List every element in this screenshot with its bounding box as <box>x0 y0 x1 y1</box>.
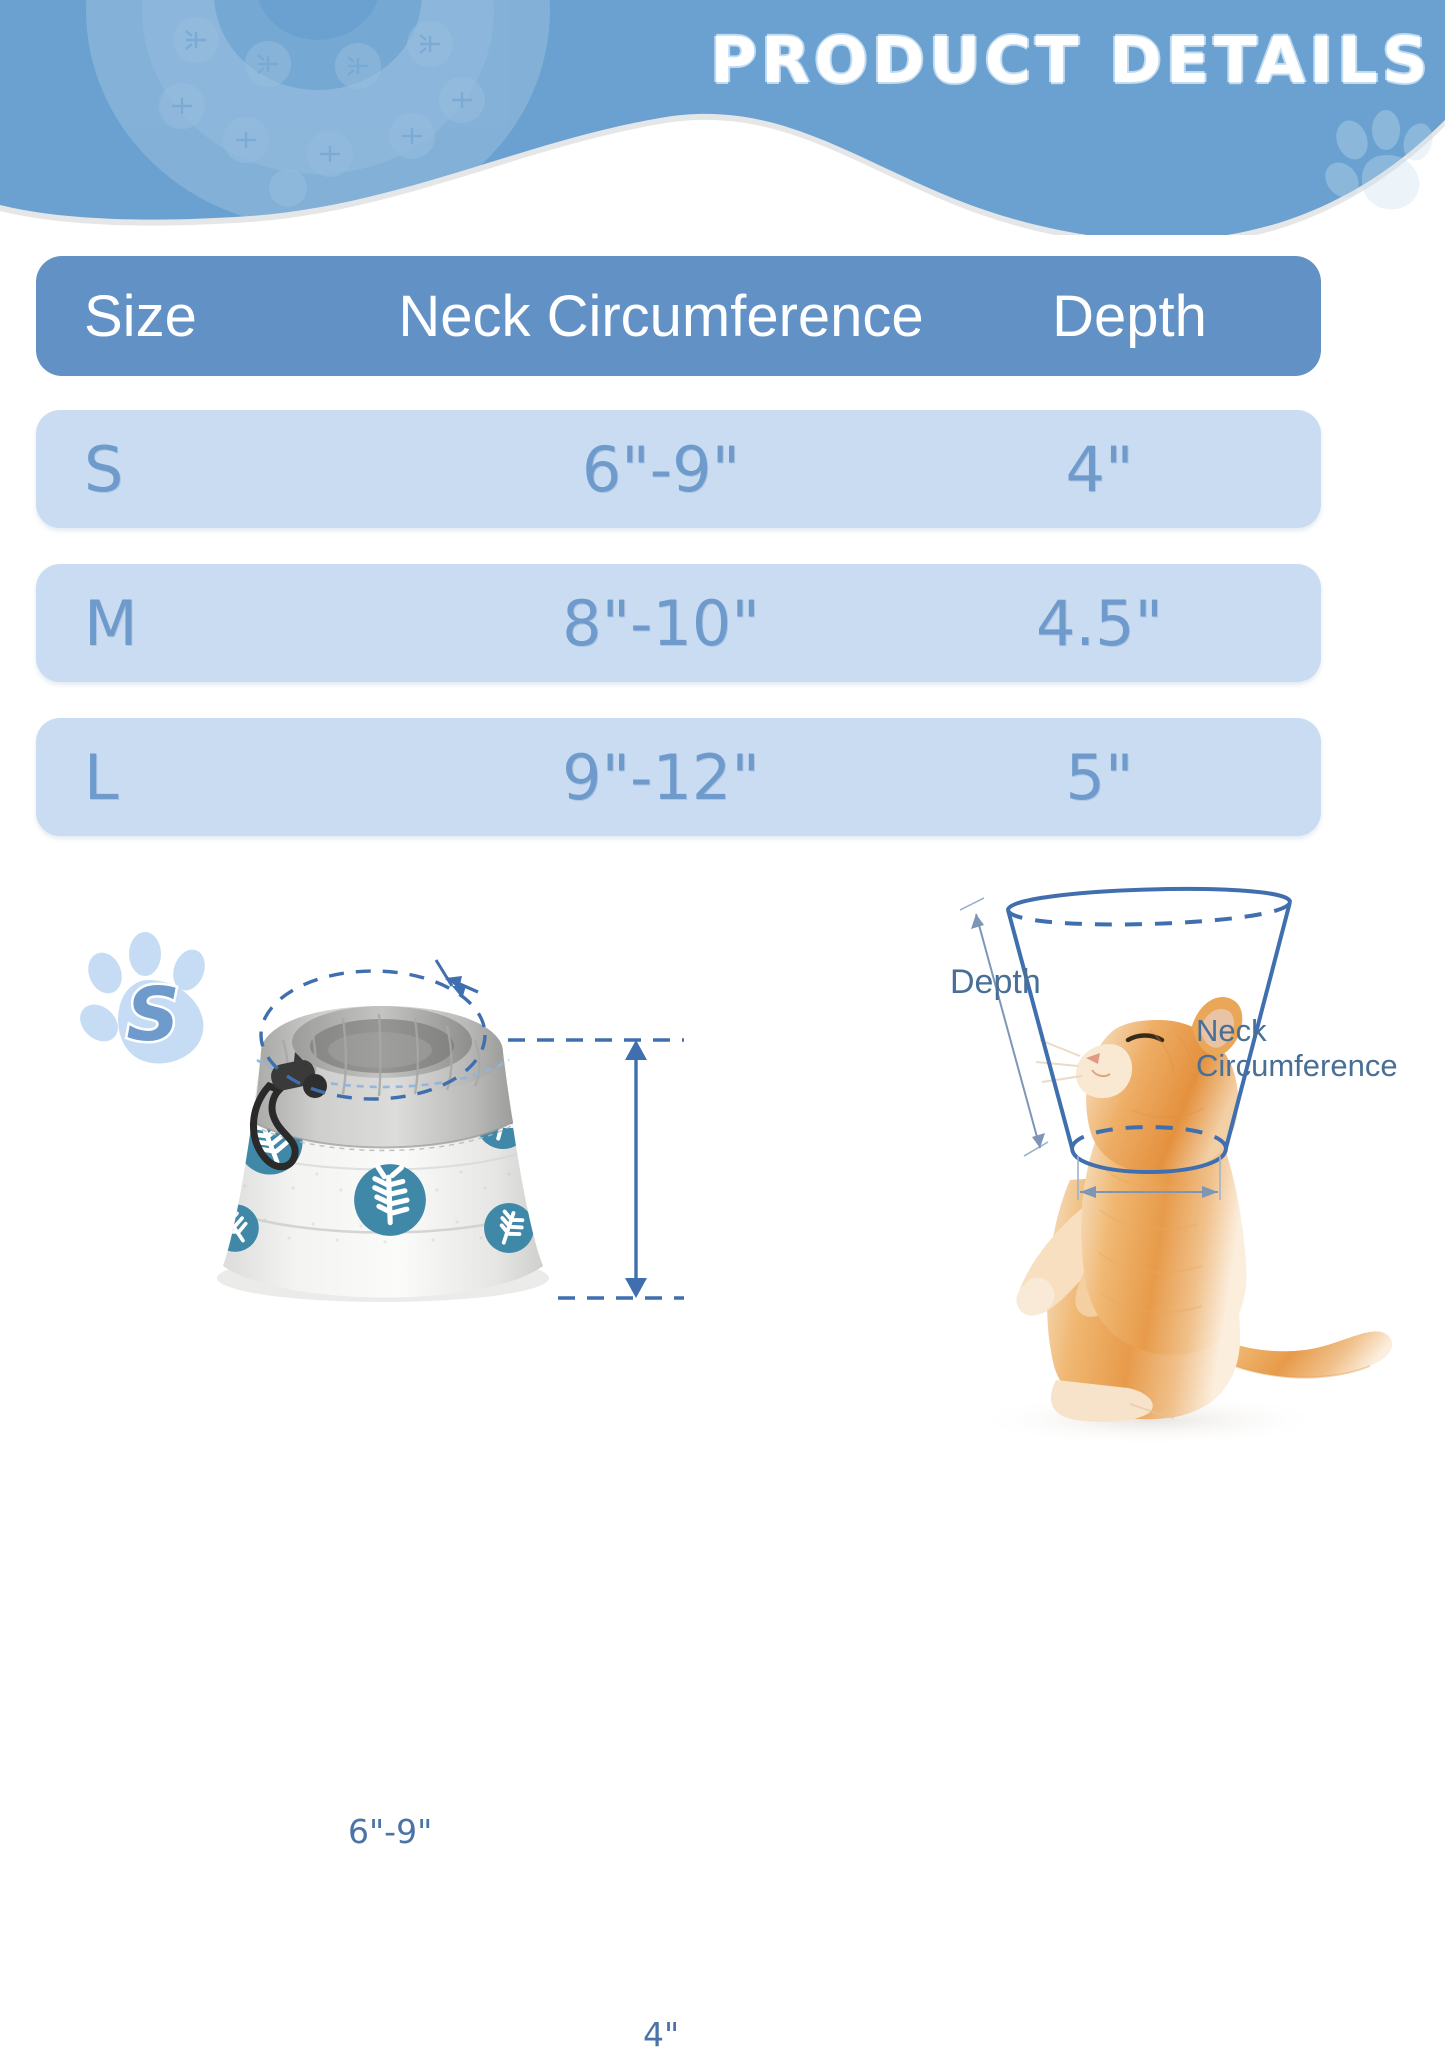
cell-depth: 4.5" <box>996 587 1321 660</box>
top-banner: PRODUCT DETAILS <box>0 0 1445 235</box>
neck-circumference-outline <box>261 971 485 1099</box>
cat-depth-label: Depth <box>950 963 1041 1002</box>
cell-size: M <box>36 587 326 660</box>
neck-dimension-label: 6"-9" <box>348 1812 432 1851</box>
cat-neck-label-line2: Circumference <box>1196 1048 1398 1083</box>
dimension-annotations <box>240 900 710 1330</box>
cell-neck-circumference: 9"-12" <box>326 741 996 814</box>
cell-size: L <box>36 741 326 814</box>
cat-neck-label-line1: Neck <box>1196 1013 1398 1048</box>
depth-dimension-label: 4" <box>643 2015 679 2054</box>
cell-depth: 5" <box>996 741 1321 814</box>
cell-neck-circumference: 6"-9" <box>326 433 996 506</box>
cell-depth: 4" <box>996 433 1321 506</box>
table-row: S 6"-9" 4" <box>36 410 1321 528</box>
table-row: M 8"-10" 4.5" <box>36 564 1321 682</box>
table-row: L 9"-12" 5" <box>36 718 1321 836</box>
cell-neck-circumference: 8"-10" <box>326 587 996 660</box>
depth-arrow <box>625 1040 647 1298</box>
column-header-depth: Depth <box>996 283 1321 350</box>
product-figure: S <box>0 880 730 1445</box>
size-chart-table: Size Neck Circumference Depth S 6"-9" 4"… <box>36 256 1321 836</box>
column-header-size: Size <box>36 283 326 350</box>
page-title: PRODUCT DETAILS <box>560 14 1440 106</box>
cell-size: S <box>36 433 326 506</box>
cat-neck-circumference-label: Neck Circumference <box>1196 1013 1398 1083</box>
column-header-neck-circumference: Neck Circumference <box>326 283 996 350</box>
table-header-row: Size Neck Circumference Depth <box>36 256 1321 376</box>
